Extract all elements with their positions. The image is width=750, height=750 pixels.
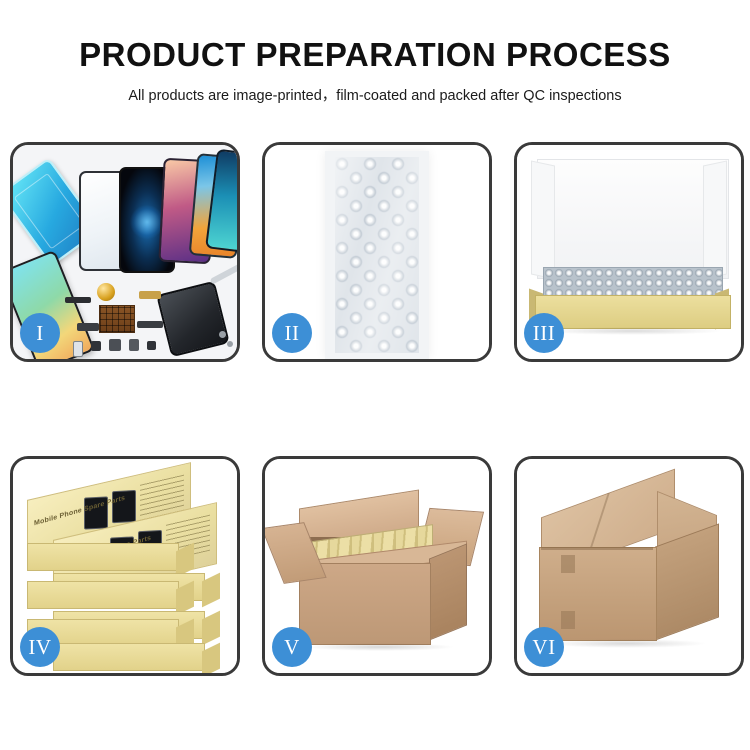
header: PRODUCT PREPARATION PROCESS All products… [0, 0, 750, 105]
step-badge-5: V [272, 627, 312, 667]
box-side [202, 643, 220, 673]
button-part-icon [147, 341, 156, 350]
page-title: PRODUCT PREPARATION PROCESS [0, 0, 750, 74]
drop-shadow [305, 643, 455, 651]
step-badge-1: I [20, 313, 60, 353]
box-lid-right-icon [703, 160, 727, 279]
box-side [202, 611, 220, 646]
screw-2-icon [227, 341, 233, 347]
sim-tray-icon [73, 341, 83, 357]
step-badge-2: II [272, 313, 312, 353]
carton-front-seam [541, 547, 653, 550]
box-side [202, 573, 220, 608]
step-panel-products-and-spare-parts: I [10, 142, 240, 362]
chip-board-icon [99, 305, 135, 333]
drop-shadow [547, 639, 707, 648]
flex-cable-icon [77, 323, 99, 331]
steps-grid: I II [10, 142, 740, 678]
carton-side-icon [429, 543, 467, 640]
step-panel-carton-loading: V [262, 456, 492, 676]
step-badge-6: VI [524, 627, 564, 667]
step-panel-stacked-retail-boxes: Mobile Phone Spare Parts Mobile Phone Sp… [10, 456, 240, 676]
page-subtitle: All products are image-printed，film-coat… [0, 74, 750, 105]
stacked-box-6 [53, 643, 205, 671]
step-badge-3: III [524, 313, 564, 353]
gold-flex-icon [139, 291, 161, 299]
small-part-icon [91, 341, 101, 351]
vibrator-icon [129, 339, 139, 351]
drop-shadow [541, 327, 723, 335]
step-panel-bubble-wrap-packing: II [262, 142, 492, 362]
box-lid-back-icon [537, 159, 729, 279]
stacked-box-3 [27, 581, 179, 609]
bubble-wrap-sleeve-icon [325, 151, 429, 359]
step-panel-sealed-carton: VI [514, 456, 744, 676]
box-front-panel-icon [535, 295, 731, 329]
screw-icon [219, 331, 226, 338]
box-lid-left-icon [531, 160, 555, 279]
carton-tape-2-icon [561, 611, 575, 629]
speaker-part-icon [97, 283, 115, 301]
stacked-box-1 [27, 543, 179, 571]
plastic-sheen [335, 157, 419, 353]
step-panel-inner-box-packing: III [514, 142, 744, 362]
carton-front-face-icon [539, 547, 657, 641]
carton-tape-1-icon [561, 555, 575, 573]
flex-cable-2-icon [137, 321, 163, 328]
product-preparation-infographic: PRODUCT PREPARATION PROCESS All products… [0, 0, 750, 750]
battery-connector-icon [65, 297, 91, 303]
camera-module-icon [109, 339, 121, 351]
step-badge-4: IV [20, 627, 60, 667]
